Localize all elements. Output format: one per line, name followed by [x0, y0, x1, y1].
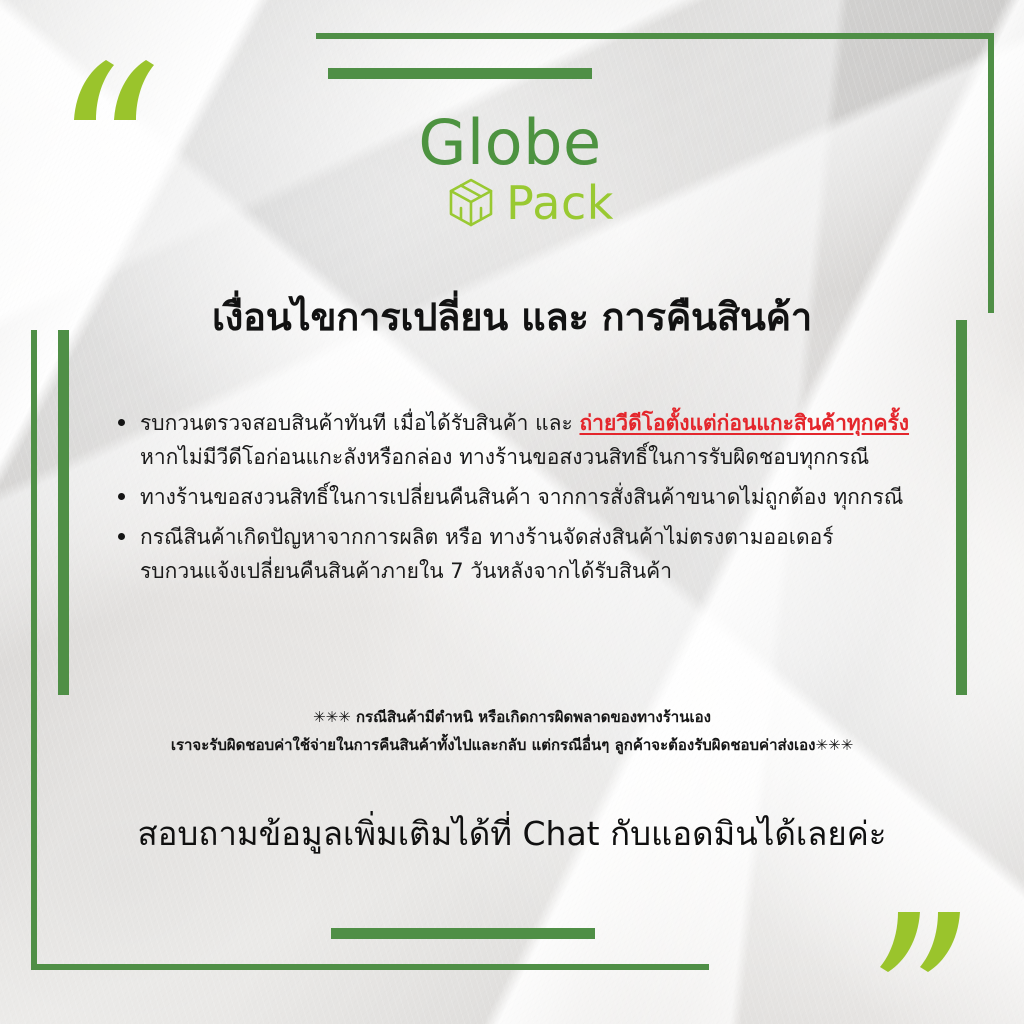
bullet-line: รบกวนแจ้งเปลี่ยนคืนสินค้าภายใน 7 วันหลัง… [140, 554, 944, 588]
brand-name-globe: Globe [0, 112, 1024, 174]
note-line-2: เราจะรับผิดชอบค่าใช้จ่ายในการคืนสินค้าทั… [0, 732, 1024, 760]
bullet-line: กรณีสินค้าเกิดปัญหาจากการผลิต หรือ ทางร้… [140, 520, 944, 554]
list-item: รบกวนตรวจสอบสินค้าทันที เมื่อได้รับสินค้… [112, 406, 944, 474]
contact-cta: สอบถามข้อมูลเพิ่มเติมได้ที่ Chat กับแอดม… [0, 814, 1024, 854]
bullet-text: หากไม่มีวีดีโอก่อนแกะลังหรือกล่อง ทางร้า… [140, 445, 869, 469]
box-cube-icon [448, 178, 494, 228]
bullet-text: กรณีสินค้าเกิดปัญหาจากการผลิต หรือ ทางร้… [140, 525, 834, 549]
policy-note: ✳✳✳ กรณีสินค้ามีตำหนิ หรือเกิดการผิดพลาด… [0, 704, 1024, 760]
bullet-dot-icon [118, 419, 125, 426]
frame-top-inner-rule [328, 68, 592, 79]
frame-right-inner-rule [956, 320, 967, 695]
page-title: เงื่อนไขการเปลี่ยน และ การคืนสินค้า [0, 296, 1024, 340]
frame-left-inner-rule [58, 330, 69, 695]
frame-bottom-outer-rule [31, 964, 709, 970]
bullet-dot-icon [118, 533, 125, 540]
bullet-text-emphasis: ถ่ายวีดีโอตั้งแต่ก่อนแกะสินค้าทุกครั้ง [579, 411, 909, 435]
frame-top-outer-rule [316, 33, 994, 39]
bullet-text: รบกวนแจ้งเปลี่ยนคืนสินค้าภายใน 7 วันหลัง… [140, 559, 672, 583]
note-line-1: ✳✳✳ กรณีสินค้ามีตำหนิ หรือเกิดการผิดพลาด… [0, 704, 1024, 732]
frame-bottom-inner-rule [331, 928, 595, 939]
bullet-text: ทางร้านขอสงวนสิทธิ์ในการเปลี่ยนคืนสินค้า… [140, 485, 903, 509]
close-quote-mark-icon [880, 908, 964, 974]
list-item: ทางร้านขอสงวนสิทธิ์ในการเปลี่ยนคืนสินค้า… [112, 480, 944, 514]
list-item: กรณีสินค้าเกิดปัญหาจากการผลิต หรือ ทางร้… [112, 520, 944, 588]
bullet-text: รบกวนตรวจสอบสินค้าทันที เมื่อได้รับสินค้… [140, 411, 579, 435]
brand-name-pack: Pack [506, 180, 614, 226]
brand-logo-row: Pack [38, 178, 1024, 228]
frame-left-outer-rule [31, 330, 37, 970]
bullet-line: รบกวนตรวจสอบสินค้าทันที เมื่อได้รับสินค้… [140, 406, 944, 440]
policy-poster: Globe Pack เงื่อนไขการเปลี่ยน และ การคืน… [0, 0, 1024, 1024]
bullet-line: หากไม่มีวีดีโอก่อนแกะลังหรือกล่อง ทางร้า… [140, 440, 944, 474]
bullet-dot-icon [118, 493, 125, 500]
brand-logo: Globe Pack [0, 112, 1024, 228]
policy-bullet-list: รบกวนตรวจสอบสินค้าทันที เมื่อได้รับสินค้… [112, 406, 944, 594]
bullet-line: ทางร้านขอสงวนสิทธิ์ในการเปลี่ยนคืนสินค้า… [140, 480, 944, 514]
